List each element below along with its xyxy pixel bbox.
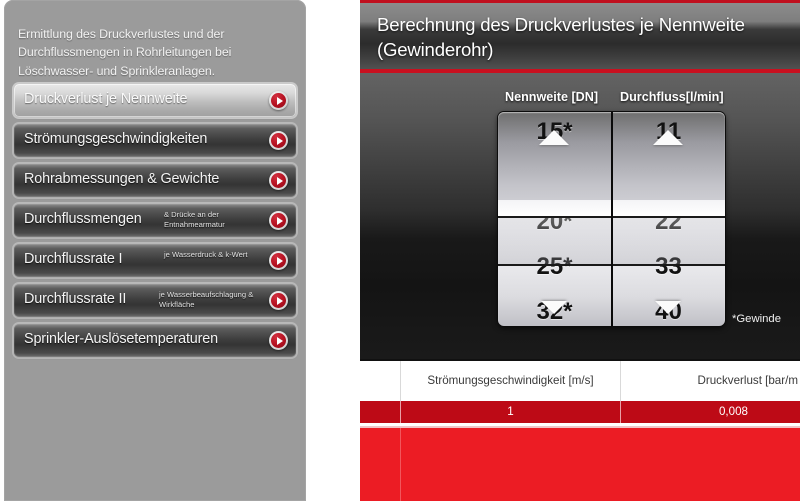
play-circle-icon[interactable] bbox=[269, 331, 288, 350]
sidebar-item-sprinkler-ausloesetemperaturen[interactable]: Sprinkler-Auslösetemperaturen bbox=[14, 324, 296, 357]
sidebar-item-label: Druckverlust je Nennweite bbox=[24, 91, 187, 107]
column-header-nennweite: Nennweite [DN] bbox=[505, 90, 598, 104]
bottom-red-area bbox=[360, 428, 800, 501]
sidebar-item-rohrabmessungen-gewichte[interactable]: Rohrabmessungen & Gewichte bbox=[14, 164, 296, 197]
picker-option[interactable]: 11 bbox=[612, 112, 725, 156]
sidebar-item-durchflussrate-2[interactable]: Durchflussrate II je Wasserbeaufschlagun… bbox=[14, 284, 296, 317]
picker-option-selected[interactable]: 20* bbox=[498, 198, 611, 246]
sidebar-item-label: Sprinkler-Auslösetemperaturen bbox=[24, 331, 218, 347]
sidebar-item-sublabel: je Wasserdruck & k-Wert bbox=[164, 250, 264, 260]
picker-option[interactable]: 32* bbox=[498, 288, 611, 326]
main-header: Berechnung des Druckverlustes je Nennwei… bbox=[360, 3, 800, 69]
picker-wheel-nennweite[interactable]: 15* 20* 25* 32* bbox=[498, 112, 611, 326]
sidebar-item-sublabel: je Wasserbeaufschlagung & Wirkfläche bbox=[159, 290, 269, 310]
bottom-column-divider bbox=[400, 428, 401, 501]
play-circle-icon[interactable] bbox=[269, 171, 288, 190]
picker-option-selected[interactable]: 22 bbox=[612, 198, 725, 246]
play-circle-icon[interactable] bbox=[269, 91, 288, 110]
table-row: 1 0,008 bbox=[360, 401, 800, 423]
play-circle-icon[interactable] bbox=[269, 291, 288, 310]
footnote-text: *Gewinde bbox=[732, 313, 781, 325]
table-cell-velocity: 1 bbox=[400, 401, 620, 423]
play-circle-icon[interactable] bbox=[269, 251, 288, 270]
table-cell-pressureloss: 0,008 bbox=[620, 401, 800, 423]
value-picker[interactable]: 15* 20* 25* 32* 11 22 33 40 bbox=[498, 112, 725, 326]
picker-option[interactable]: 40 bbox=[612, 288, 725, 326]
app-root: Ermittlung des Druckverlustes und der Du… bbox=[0, 0, 800, 501]
sidebar-item-sublabel: & Drücke an der Entnahmearmatur bbox=[164, 210, 264, 230]
sidebar-item-label: Durchflussmengen bbox=[24, 211, 142, 227]
play-circle-icon[interactable] bbox=[269, 131, 288, 150]
sidebar-item-druckverlust-je-nennweite[interactable]: Druckverlust je Nennweite bbox=[14, 84, 296, 117]
table-header-cell-blank bbox=[360, 361, 400, 401]
sidebar-item-label: Durchflussrate II bbox=[24, 291, 126, 307]
sidebar-intro-text: Ermittlung des Druckverlustes und der Du… bbox=[18, 25, 294, 80]
picker-stage: Nennweite [DN] Durchfluss[l/min] 15* 20*… bbox=[360, 73, 800, 359]
sidebar-item-durchflussrate-1[interactable]: Durchflussrate I je Wasserdruck & k-Wert bbox=[14, 244, 296, 277]
result-table: Strömungsgeschwindigkeit [m/s] Druckverl… bbox=[360, 361, 800, 423]
sidebar-item-durchflussmengen[interactable]: Durchflussmengen & Drücke an der Entnahm… bbox=[14, 204, 296, 237]
sidebar-panel: Ermittlung des Druckverlustes und der Du… bbox=[4, 0, 306, 501]
table-header-cell-velocity: Strömungsgeschwindigkeit [m/s] bbox=[400, 361, 620, 401]
picker-wheel-durchfluss[interactable]: 11 22 33 40 bbox=[612, 112, 725, 326]
picker-option[interactable]: 33 bbox=[612, 243, 725, 291]
play-circle-icon[interactable] bbox=[269, 211, 288, 230]
page-title: Berechnung des Druckverlustes je Nennwei… bbox=[377, 12, 789, 62]
sidebar-item-label: Strömungsgeschwindigkeiten bbox=[24, 131, 207, 147]
picker-option[interactable]: 15* bbox=[498, 112, 611, 156]
picker-option[interactable]: 25* bbox=[498, 243, 611, 291]
sidebar-item-stroemungsgeschwindigkeiten[interactable]: Strömungsgeschwindigkeiten bbox=[14, 124, 296, 157]
sidebar-item-label: Durchflussrate I bbox=[24, 251, 122, 267]
picker-column-divider bbox=[611, 112, 613, 326]
column-header-durchfluss: Durchfluss[l/min] bbox=[620, 90, 724, 104]
sidebar-menu: Druckverlust je Nennweite Strömungsgesch… bbox=[14, 84, 296, 364]
sidebar-item-label: Rohrabmessungen & Gewichte bbox=[24, 171, 219, 187]
table-header-cell-pressureloss: Druckverlust [bar/m bbox=[620, 361, 800, 401]
main-panel: Berechnung des Druckverlustes je Nennwei… bbox=[360, 0, 800, 501]
table-cell-blank bbox=[360, 401, 400, 423]
table-header-row: Strömungsgeschwindigkeit [m/s] Druckverl… bbox=[360, 361, 800, 401]
